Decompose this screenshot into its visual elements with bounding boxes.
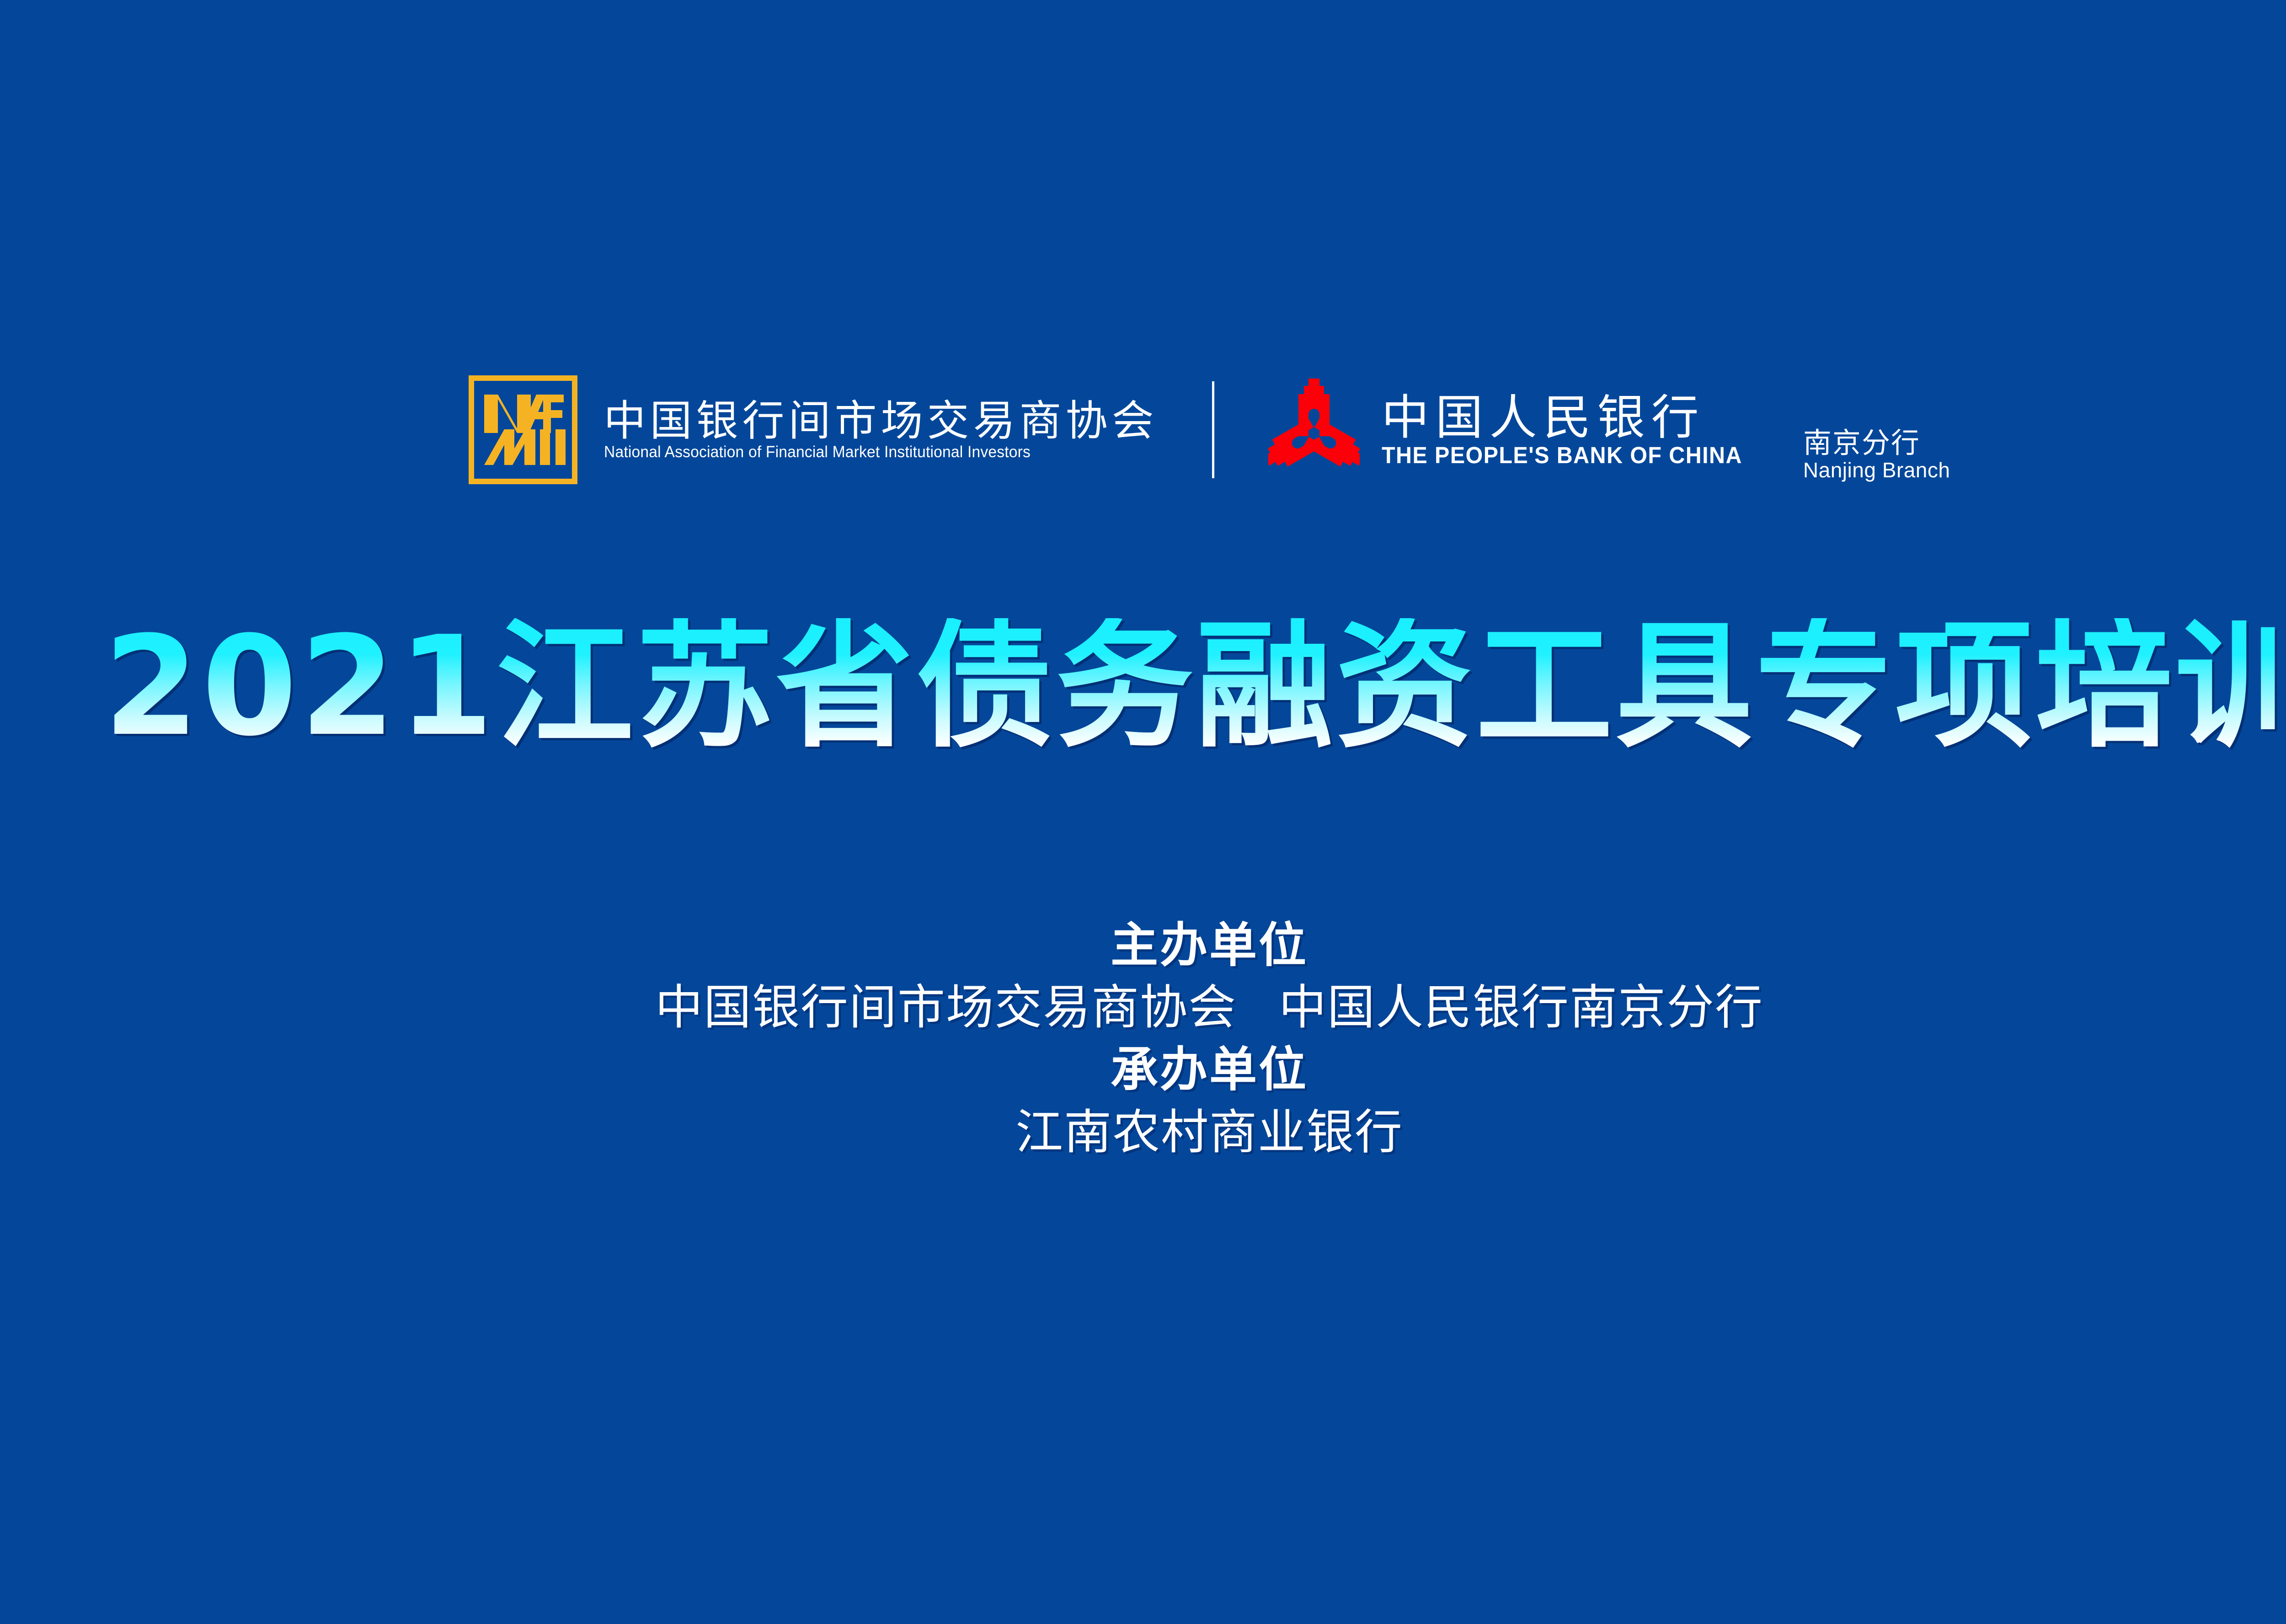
pboc-trefoil-emblem-icon: [1268, 375, 1360, 485]
pboc-branch-en: Nanjing Branch: [1803, 459, 1950, 482]
page-title: 2021江苏省债务融资工具专项培训: [0, 618, 2286, 755]
host-label: 主办单位: [0, 914, 2286, 976]
pboc-wordmark: 中国人民银行 THE PEOPLE'S BANK OF CHINA: [1382, 393, 1761, 466]
pboc-branch-block: 南京分行 Nanjing Branch: [1803, 427, 1950, 485]
nafmii-monogram-icon: [469, 375, 577, 484]
pboc-name-cn: 中国人民银行: [1382, 393, 1761, 442]
organizer-block: 主办单位 中国银行间市场交易商协会中国人民银行南京分行 承办单位 江南农村商业银…: [0, 914, 2286, 1164]
nafmii-name-cn: 中国银行间市场交易商协会: [604, 400, 1158, 442]
pboc-logo-lockup: 中国人民银行 THE PEOPLE'S BANK OF CHINA 南京分行 N…: [1268, 375, 1950, 485]
host-organization-2: 中国人民银行南京分行: [1279, 979, 1763, 1035]
nafmii-wordmark: 中国银行间市场交易商协会 National Association of Fin…: [604, 400, 1158, 460]
poster-slide: { "background_color": "#04479a", "header…: [0, 0, 2286, 1624]
host-organization-1: 中国银行间市场交易商协会: [655, 979, 1237, 1035]
nafmii-logo-lockup: 中国银行间市场交易商协会 National Association of Fin…: [469, 375, 1158, 484]
nafmii-name-en: National Association of Financial Market…: [604, 444, 1136, 460]
pboc-branch-cn: 南京分行: [1803, 427, 1950, 459]
logo-bar: 中国银行间市场交易商协会 National Association of Fin…: [0, 361, 2286, 498]
organizer-organization-1: 江南农村商业银行: [0, 1101, 2286, 1164]
host-organizations-row: 中国银行间市场交易商协会中国人民银行南京分行: [0, 976, 2286, 1039]
pboc-name-en: THE PEOPLE'S BANK OF CHINA: [1382, 443, 1742, 467]
logo-divider: [1212, 381, 1214, 478]
organizer-label: 承办单位: [0, 1039, 2286, 1100]
